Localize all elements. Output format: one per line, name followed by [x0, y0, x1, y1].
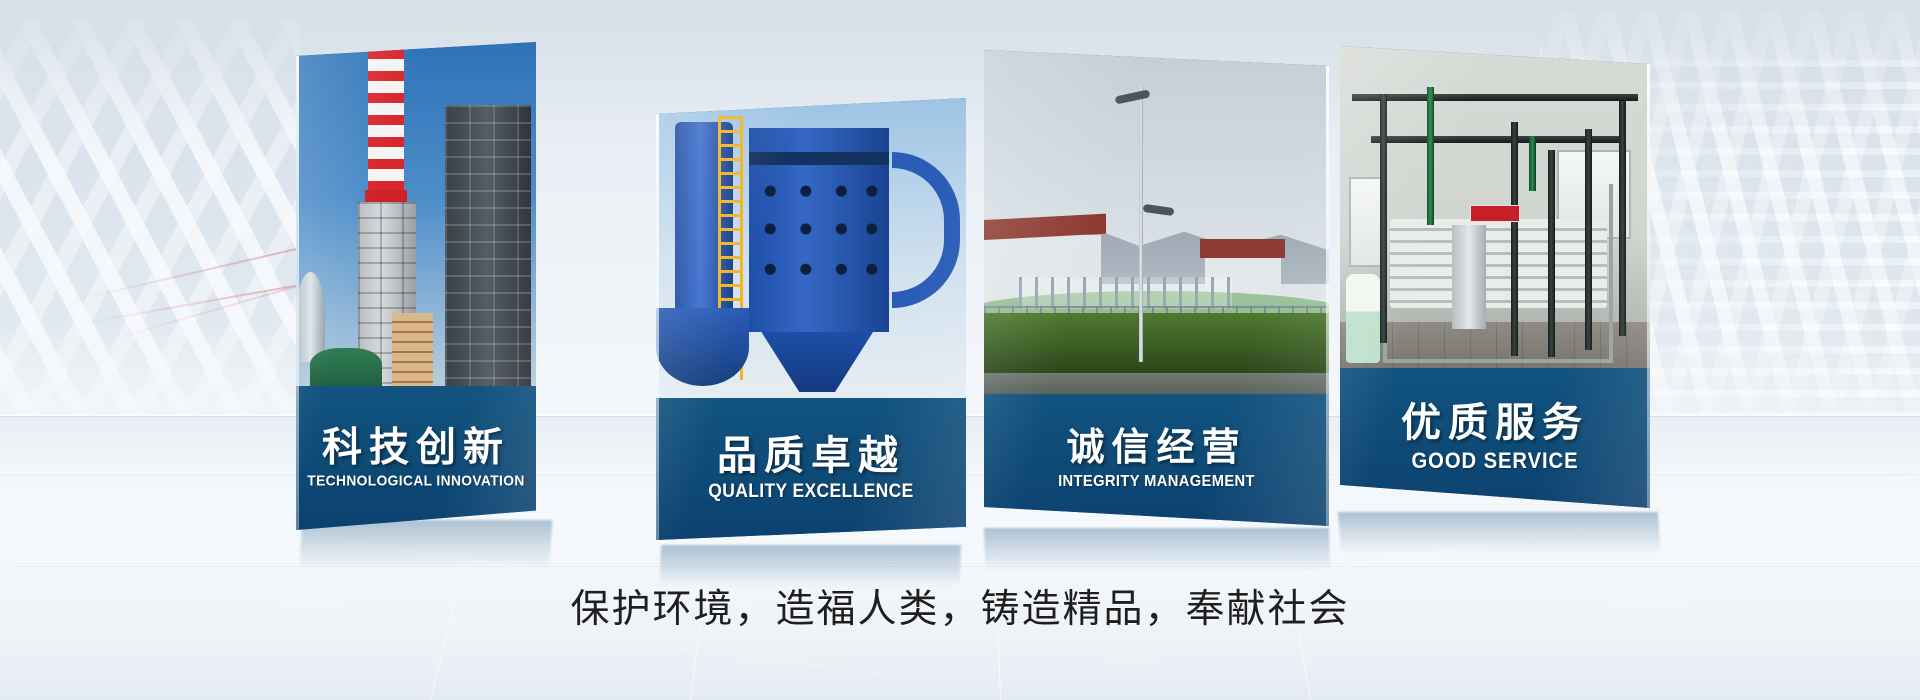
panel-photo-2: [656, 98, 966, 398]
panel-title-en-1: TECHNOLOGICAL INNOVATION: [306, 473, 527, 490]
feature-panel-integrity-management[interactable]: 诚信经营 INTEGRITY MANAGEMENT: [984, 50, 1329, 526]
panel-caption-band-4: 优质服务 GOOD SERVICE: [1340, 368, 1650, 508]
panel-title-cn-2: 品质卓越: [656, 435, 966, 477]
panel-caption-band-2: 品质卓越 QUALITY EXCELLENCE: [656, 398, 966, 540]
panel-title-en-2: QUALITY EXCELLENCE: [668, 481, 953, 503]
panel-title-en-3: INTEGRITY MANAGEMENT: [998, 473, 1315, 491]
panel-title-cn-1: 科技创新: [296, 427, 536, 469]
banner-stage: 科技创新 TECHNOLOGICAL INNOVATION: [0, 0, 1920, 700]
panel-title-en-4: GOOD SERVICE: [1352, 448, 1637, 474]
feature-panel-quality-excellence[interactable]: 品质卓越 QUALITY EXCELLENCE: [656, 98, 966, 540]
panel-title-cn-4: 优质服务: [1340, 402, 1650, 444]
panel-photo-4: [1340, 46, 1650, 391]
panel-caption-band-1: 科技创新 TECHNOLOGICAL INNOVATION: [296, 386, 536, 530]
panel-caption-band-3: 诚信经营 INTEGRITY MANAGEMENT: [984, 394, 1329, 526]
panel-photo-3: [984, 50, 1329, 405]
feature-panel-technological-innovation[interactable]: 科技创新 TECHNOLOGICAL INNOVATION: [296, 42, 536, 530]
panel-photo-1: [296, 42, 536, 390]
panel-title-cn-3: 诚信经营: [984, 429, 1329, 469]
feature-panel-good-service[interactable]: 优质服务 GOOD SERVICE: [1340, 46, 1650, 508]
banner-slogan: 保护环境，造福人类，铸造精品，奉献社会: [0, 578, 1920, 634]
